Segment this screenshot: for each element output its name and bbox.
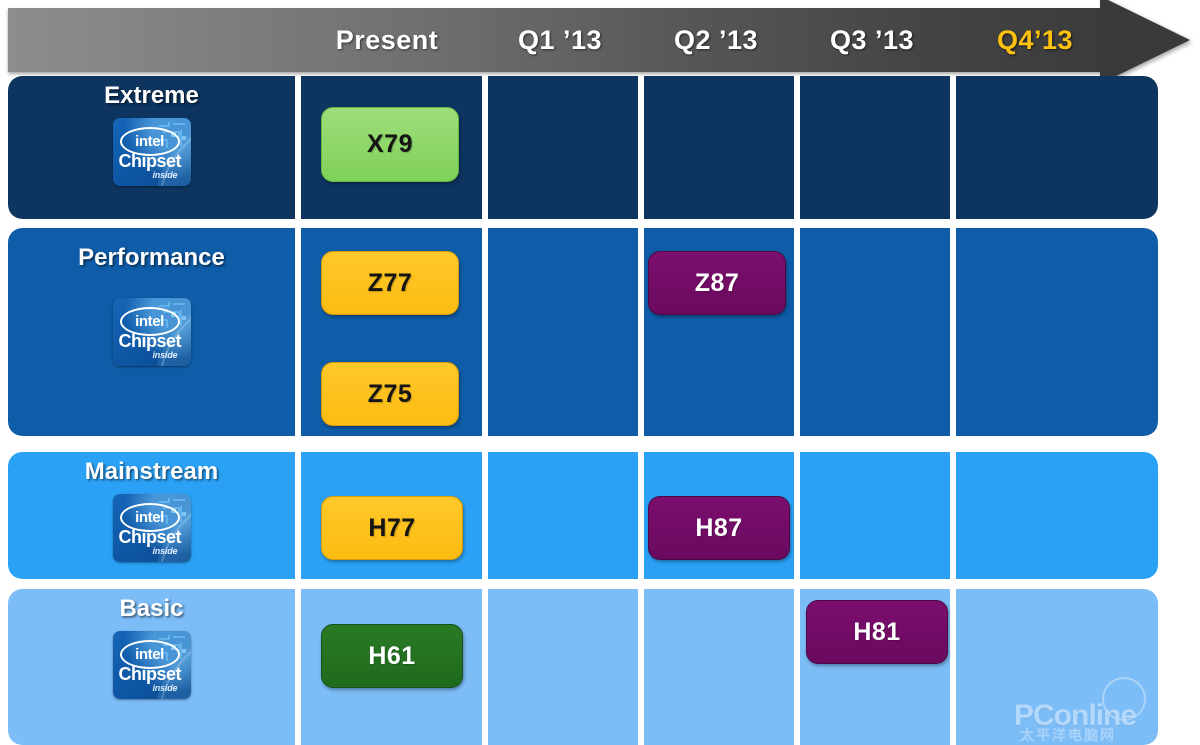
column-divider — [295, 76, 301, 219]
column-divider — [794, 76, 800, 219]
chip-label: X79 — [367, 130, 413, 159]
column-divider — [638, 228, 644, 436]
column-divider — [794, 228, 800, 436]
segment-row-extreme: Extreme intel Chipset inside — [8, 76, 1158, 219]
column-divider — [794, 452, 800, 579]
segment-label-cell-extreme: Extreme intel Chipset inside — [8, 76, 295, 219]
chip-z77[interactable]: Z77 — [321, 251, 459, 315]
inside-wordmark: inside — [153, 350, 178, 360]
column-divider — [295, 228, 301, 436]
chip-x79[interactable]: X79 — [321, 107, 459, 182]
intel-chipset-inside-logo: intel Chipset inside — [113, 631, 191, 699]
segment-title: Performance — [78, 244, 225, 272]
chip-h61[interactable]: H61 — [321, 624, 463, 688]
column-divider — [295, 452, 301, 579]
chipset-wordmark: Chipset — [119, 664, 182, 685]
column-divider — [638, 589, 644, 745]
timeline-column-q3-13[interactable]: Q3 ’13 — [794, 8, 950, 72]
segment-row-basic: Basic intel Chipset inside — [8, 589, 1158, 745]
timeline-arrow: Present Q1 ’13 Q2 ’13 Q3 ’13 Q4’13 — [0, 8, 1200, 72]
timeline-labels: Present Q1 ’13 Q2 ’13 Q3 ’13 Q4’13 — [0, 8, 1120, 72]
roadmap-board: Present Q1 ’13 Q2 ’13 Q3 ’13 Q4’13 Extre… — [0, 0, 1200, 745]
column-divider — [638, 76, 644, 219]
chip-label: H81 — [853, 618, 900, 647]
chip-h77[interactable]: H77 — [321, 496, 463, 560]
chipset-wordmark: Chipset — [119, 151, 182, 172]
intel-wordmark-text: intel — [135, 509, 164, 526]
timeline-column-present[interactable]: Present — [292, 8, 482, 72]
timeline-column-q4-13[interactable]: Q4’13 — [950, 8, 1120, 72]
column-divider — [950, 452, 956, 579]
chip-z87[interactable]: Z87 — [648, 251, 786, 315]
segment-title: Extreme — [104, 82, 199, 110]
column-divider — [794, 589, 800, 745]
segment-title: Mainstream — [85, 458, 218, 486]
chip-label: Z77 — [368, 269, 413, 298]
inside-wordmark: inside — [153, 683, 178, 693]
column-divider — [950, 228, 956, 436]
column-divider — [638, 452, 644, 579]
column-divider — [950, 76, 956, 219]
inside-wordmark: inside — [153, 546, 178, 556]
inside-wordmark: inside — [153, 170, 178, 180]
timeline-column-q2-13[interactable]: Q2 ’13 — [638, 8, 794, 72]
chip-label: H61 — [368, 642, 415, 671]
column-divider — [295, 589, 301, 745]
segment-row-performance: Performance intel Chipset inside — [8, 228, 1158, 436]
chip-h87[interactable]: H87 — [648, 496, 790, 560]
segment-label-cell-mainstream: Mainstream intel Chipset inside — [8, 452, 295, 579]
segment-row-mainstream: Mainstream intel Chipset inside — [8, 452, 1158, 579]
intel-wordmark-text: intel — [135, 313, 164, 330]
segment-label-cell-basic: Basic intel Chipset inside — [8, 589, 295, 745]
column-divider — [482, 228, 488, 436]
chipset-wordmark: Chipset — [119, 527, 182, 548]
intel-chipset-inside-logo: intel Chipset inside — [113, 118, 191, 186]
chip-label: Z75 — [368, 380, 413, 409]
chip-z75[interactable]: Z75 — [321, 362, 459, 426]
column-divider — [482, 589, 488, 745]
column-divider — [950, 589, 956, 745]
chipset-wordmark: Chipset — [119, 331, 182, 352]
segment-title: Basic — [119, 595, 183, 623]
chip-h81[interactable]: H81 — [806, 600, 948, 664]
intel-wordmark-text: intel — [135, 133, 164, 150]
chip-label: Z87 — [695, 269, 740, 298]
intel-wordmark-text: intel — [135, 646, 164, 663]
column-divider — [482, 76, 488, 219]
segment-label-cell-performance: Performance intel Chipset inside — [8, 228, 295, 436]
intel-chipset-inside-logo: intel Chipset inside — [113, 494, 191, 562]
intel-chipset-inside-logo: intel Chipset inside — [113, 298, 191, 366]
column-divider — [482, 452, 488, 579]
chip-label: H87 — [695, 514, 742, 543]
chip-label: H77 — [368, 514, 415, 543]
timeline-column-q1-13[interactable]: Q1 ’13 — [482, 8, 638, 72]
